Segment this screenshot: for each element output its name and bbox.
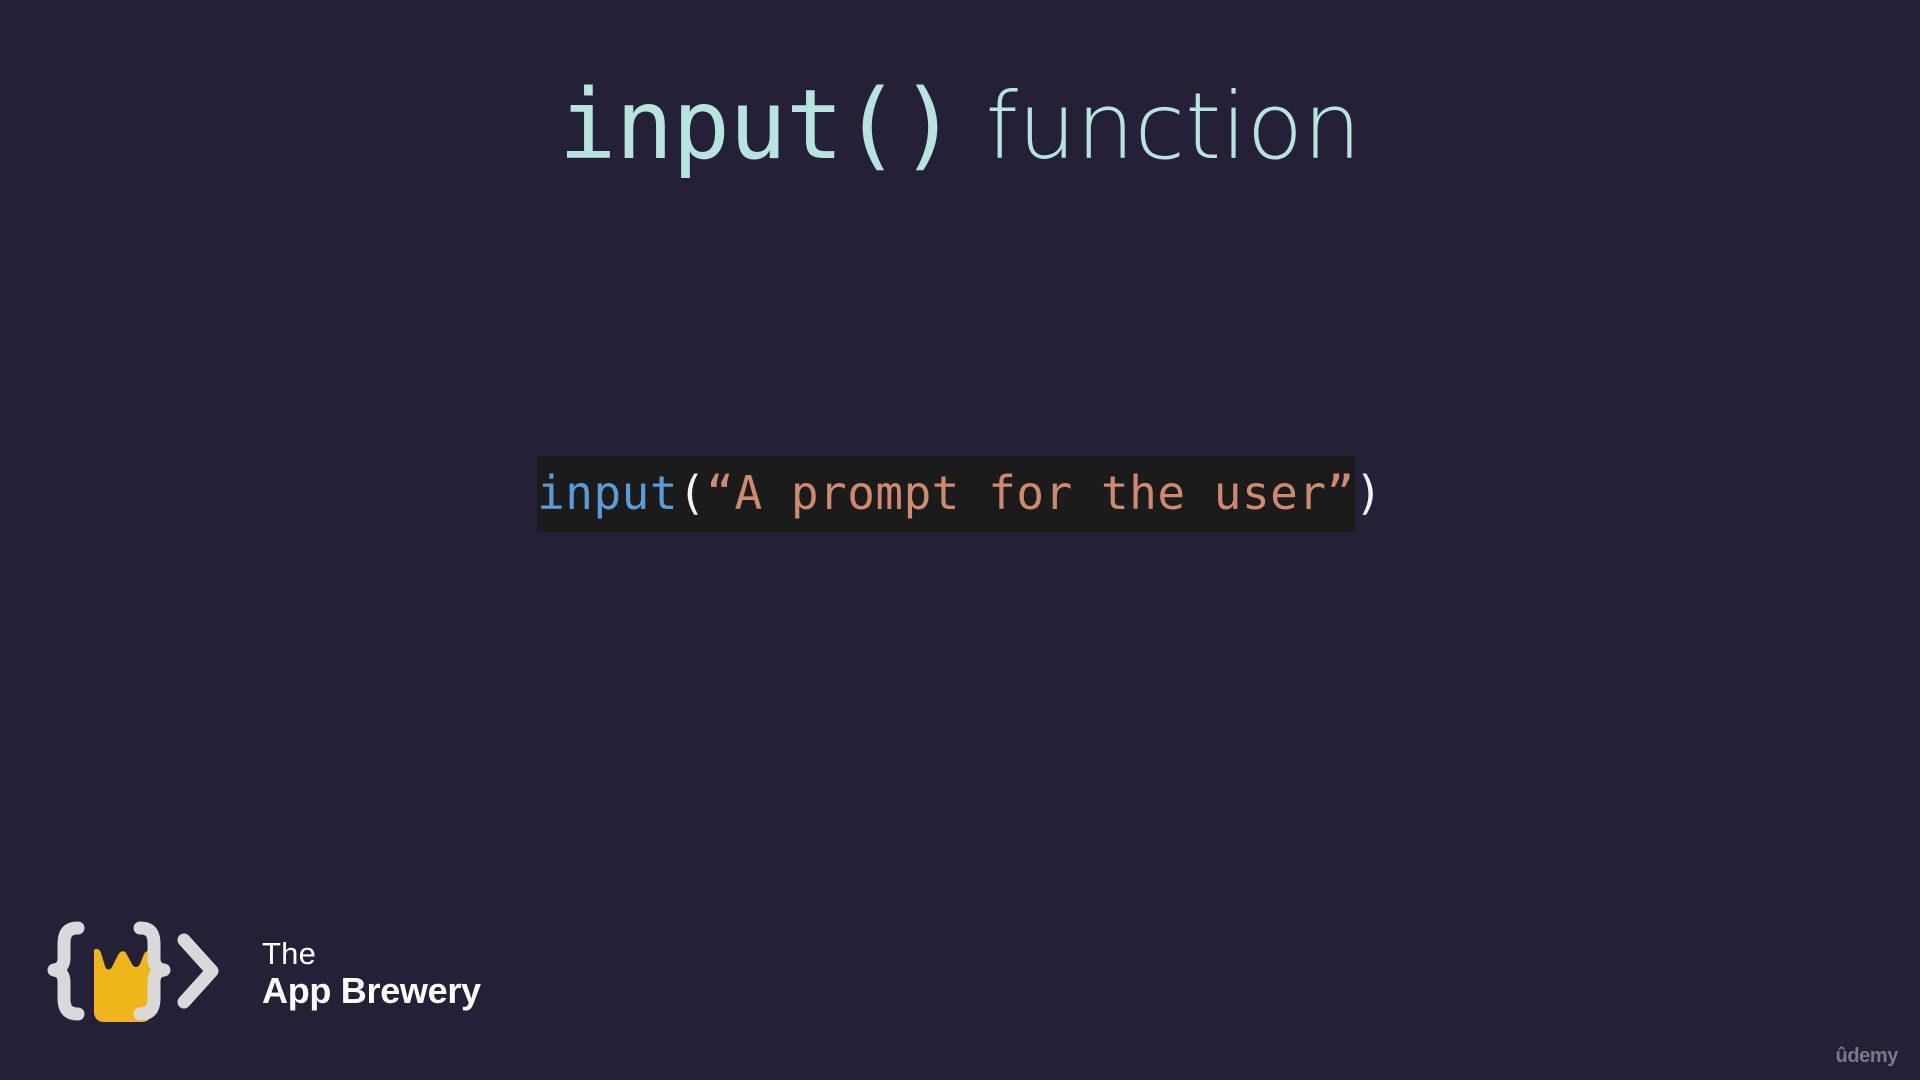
page-title: input() function bbox=[0, 72, 1920, 180]
page-title-sans-part: function bbox=[956, 73, 1361, 180]
logo-line-the: The bbox=[262, 938, 481, 969]
left-brace-icon bbox=[54, 928, 78, 1014]
udemy-watermark: ûdemy bbox=[1836, 1045, 1898, 1068]
code-token-close-paren: ) bbox=[1355, 466, 1383, 520]
chevron-right-icon bbox=[184, 940, 212, 1002]
code-token-function-name: input bbox=[537, 456, 678, 532]
code-snippet-container: input(“A prompt for the user”) bbox=[0, 470, 1920, 516]
app-brewery-logo-mark bbox=[34, 914, 244, 1032]
app-brewery-logo: The App Brewery bbox=[34, 914, 481, 1032]
page-title-mono-part: input() bbox=[559, 69, 957, 181]
code-snippet: input(“A prompt for the user”) bbox=[537, 470, 1383, 516]
app-brewery-logo-text: The App Brewery bbox=[262, 938, 481, 1009]
logo-line-app-brewery: App Brewery bbox=[262, 973, 481, 1009]
code-token-open-paren: ( bbox=[678, 456, 706, 532]
code-token-string-literal: “A prompt for the user” bbox=[706, 456, 1354, 532]
